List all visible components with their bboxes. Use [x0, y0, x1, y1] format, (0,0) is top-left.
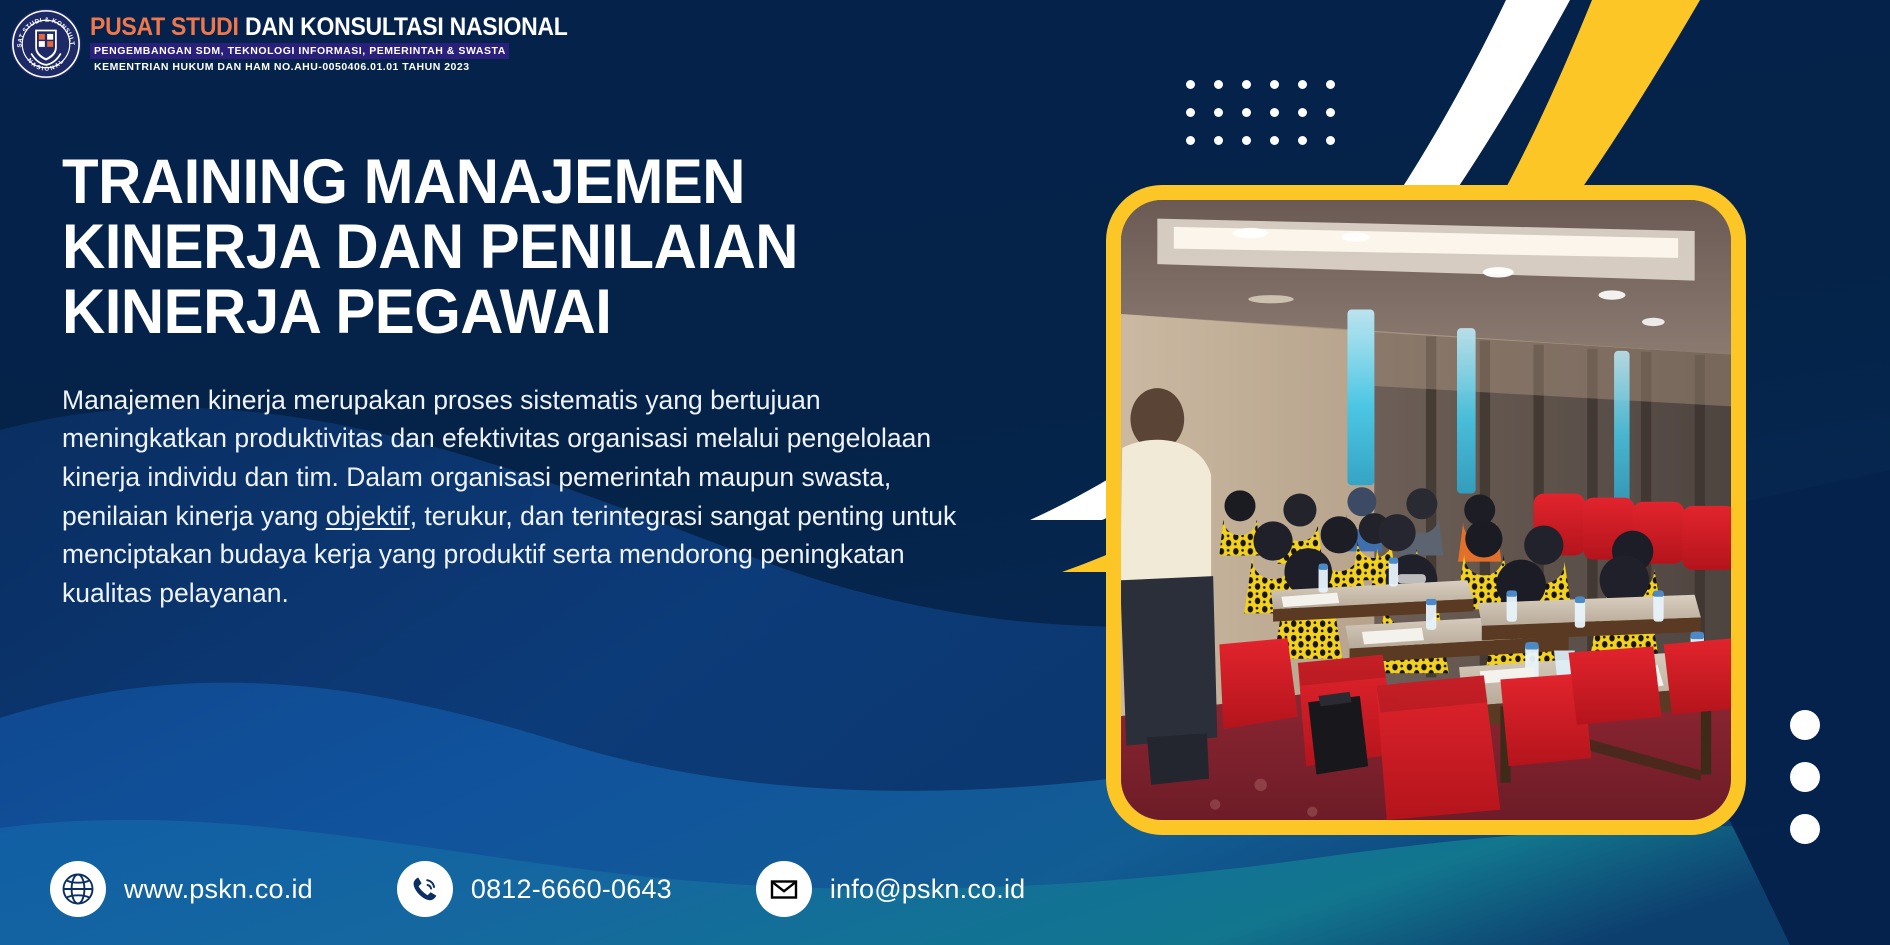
dot-large: [1790, 762, 1820, 792]
dot: [1270, 80, 1279, 89]
brand-tagline: PENGEMBANGAN SDM, TEKNOLOGI INFORMASI, P…: [90, 43, 509, 59]
page-title-line-3: KINERJA PEGAWAI: [62, 280, 946, 345]
brand-name: PUSAT STUDIDAN KONSULTASI NASIONAL: [90, 15, 568, 41]
dot: [1326, 80, 1335, 89]
dot: [1326, 136, 1335, 145]
brand-legal-number: KEMENTRIAN HUKUM DAN HAM NO.AHU-0050406.…: [90, 59, 609, 73]
dot: [1326, 108, 1335, 117]
circular-seal-book-emblem-icon: PUSAT STUDI & KONSULTASI NASIONAL: [10, 8, 82, 80]
training-photo: [1121, 200, 1731, 820]
dot: [1298, 108, 1307, 117]
dot: [1186, 136, 1195, 145]
page-title: TRAINING MANAJEMEN KINERJA DAN PENILAIAN…: [62, 150, 946, 345]
dot: [1270, 108, 1279, 117]
dot: [1214, 108, 1223, 117]
dot: [1214, 136, 1223, 145]
dot: [1298, 80, 1307, 89]
contact-website[interactable]: www.pskn.co.id: [50, 861, 313, 917]
dot: [1242, 80, 1251, 89]
dot: [1242, 136, 1251, 145]
page-title-line-2: KINERJA DAN PENILAIAN: [62, 215, 946, 280]
brand-name-part2: DAN KONSULTASI NASIONAL: [245, 13, 567, 41]
poster-canvas: PUSAT STUDI & KONSULTASI NASIONAL PUSAT …: [0, 0, 1890, 945]
contact-email[interactable]: info@pskn.co.id: [756, 861, 1026, 917]
dot-large: [1790, 814, 1820, 844]
description-emphasis: objektif: [326, 501, 410, 531]
dot: [1186, 80, 1195, 89]
dot-grid-decoration: [1186, 80, 1354, 164]
page-title-line-1: TRAINING MANAJEMEN: [62, 150, 946, 215]
email-label: info@pskn.co.id: [830, 874, 1026, 905]
training-photo-frame: [1106, 185, 1746, 835]
main-content: TRAINING MANAJEMEN KINERJA DAN PENILAIAN…: [62, 150, 992, 613]
dot: [1270, 136, 1279, 145]
brand-logo-bar: PUSAT STUDI & KONSULTASI NASIONAL PUSAT …: [10, 8, 609, 80]
brand-name-part1: PUSAT STUDI: [90, 13, 239, 41]
dot: [1214, 80, 1223, 89]
globe-icon: [50, 861, 106, 917]
dot: [1298, 136, 1307, 145]
phone-icon: [397, 861, 453, 917]
phone-label: 0812-6660-0643: [471, 874, 672, 905]
brand-wordmark: PUSAT STUDIDAN KONSULTASI NASIONAL PENGE…: [90, 8, 609, 80]
envelope-icon: [756, 861, 812, 917]
contact-phone[interactable]: 0812-6660-0643: [397, 861, 672, 917]
contact-bar: www.pskn.co.id 0812-6660-0643: [50, 861, 1025, 917]
website-label: www.pskn.co.id: [124, 874, 313, 905]
description-paragraph: Manajemen kinerja merupakan proses siste…: [62, 381, 982, 613]
dot-large: [1790, 710, 1820, 740]
dot-stack-decoration: [1790, 710, 1820, 844]
dot: [1186, 108, 1195, 117]
dot: [1242, 108, 1251, 117]
